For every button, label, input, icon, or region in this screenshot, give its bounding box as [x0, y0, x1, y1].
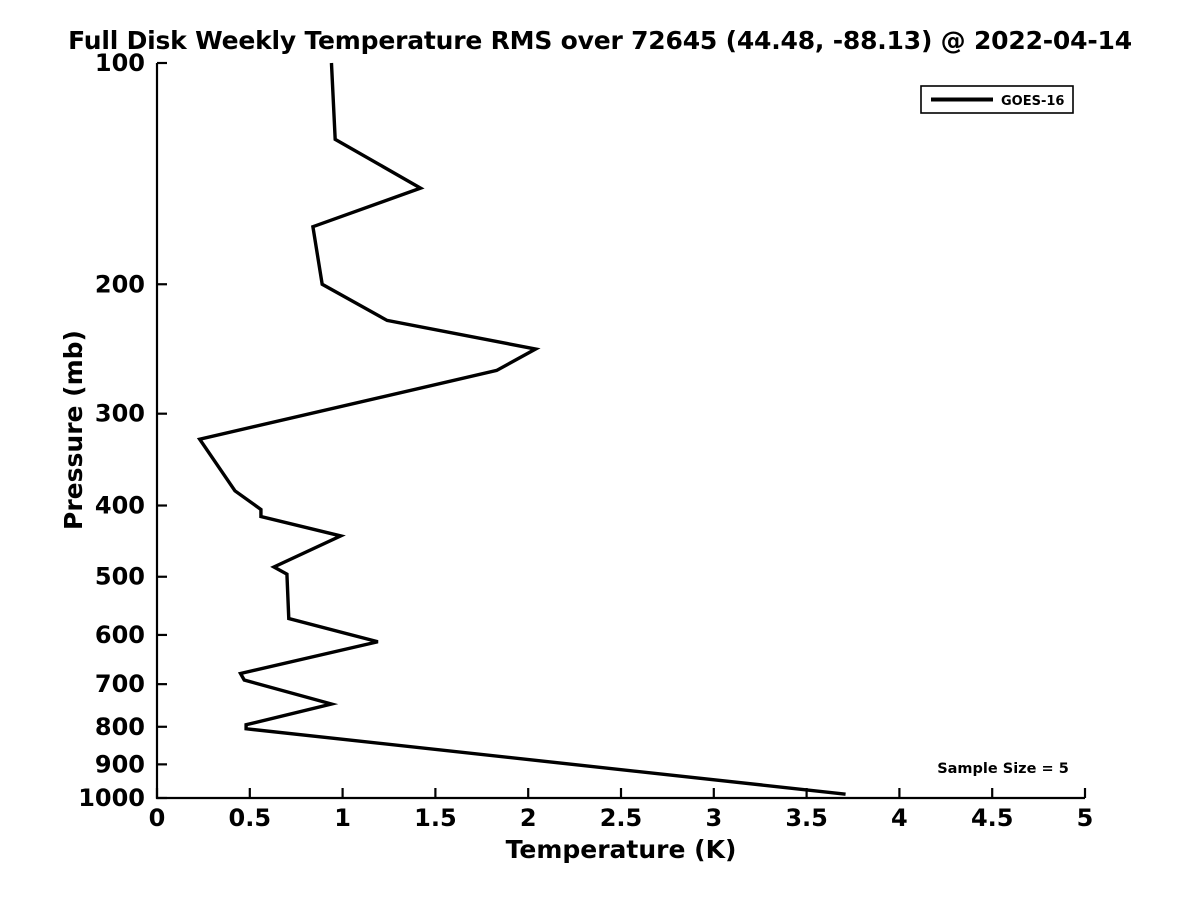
y-axis-title: Pressure (mb) — [59, 330, 88, 530]
x-tick-label: 0 — [149, 804, 166, 832]
x-tick-label: 3 — [705, 804, 722, 832]
chart-plot-area: 1002003004005006007008009001000 00.511.5… — [0, 0, 1200, 900]
x-axis-ticks: 00.511.522.533.544.55 — [149, 788, 1094, 832]
y-tick-label: 400 — [95, 492, 145, 520]
x-tick-label: 5 — [1077, 804, 1094, 832]
y-tick-label: 300 — [95, 400, 145, 428]
legend-label-goes-16: GOES-16 — [1001, 94, 1064, 109]
y-tick-label: 500 — [95, 563, 145, 591]
chart-legend[interactable]: GOES-16 — [921, 86, 1073, 113]
x-tick-label: 3.5 — [785, 804, 828, 832]
y-tick-label: 900 — [95, 750, 145, 778]
series-line-goes-16 — [200, 63, 846, 794]
y-tick-label: 100 — [95, 49, 145, 77]
x-axis-title: Temperature (K) — [506, 835, 737, 864]
y-axis-ticks: 1002003004005006007008009001000 — [78, 49, 167, 812]
y-tick-label: 200 — [95, 270, 145, 298]
x-tick-label: 1.5 — [414, 804, 457, 832]
x-tick-label: 0.5 — [229, 804, 272, 832]
x-tick-label: 4 — [891, 804, 908, 832]
x-tick-label: 2.5 — [600, 804, 643, 832]
data-series-group — [200, 63, 846, 794]
chart-figure: Full Disk Weekly Temperature RMS over 72… — [0, 0, 1200, 900]
y-tick-label: 600 — [95, 621, 145, 649]
y-tick-label: 700 — [95, 670, 145, 698]
y-tick-label: 800 — [95, 713, 145, 741]
x-tick-label: 1 — [334, 804, 351, 832]
x-tick-label: 4.5 — [971, 804, 1014, 832]
axis-spines — [157, 63, 1085, 798]
y-tick-label: 1000 — [78, 784, 145, 812]
sample-size-annotation: Sample Size = 5 — [937, 761, 1069, 777]
x-tick-label: 2 — [520, 804, 537, 832]
